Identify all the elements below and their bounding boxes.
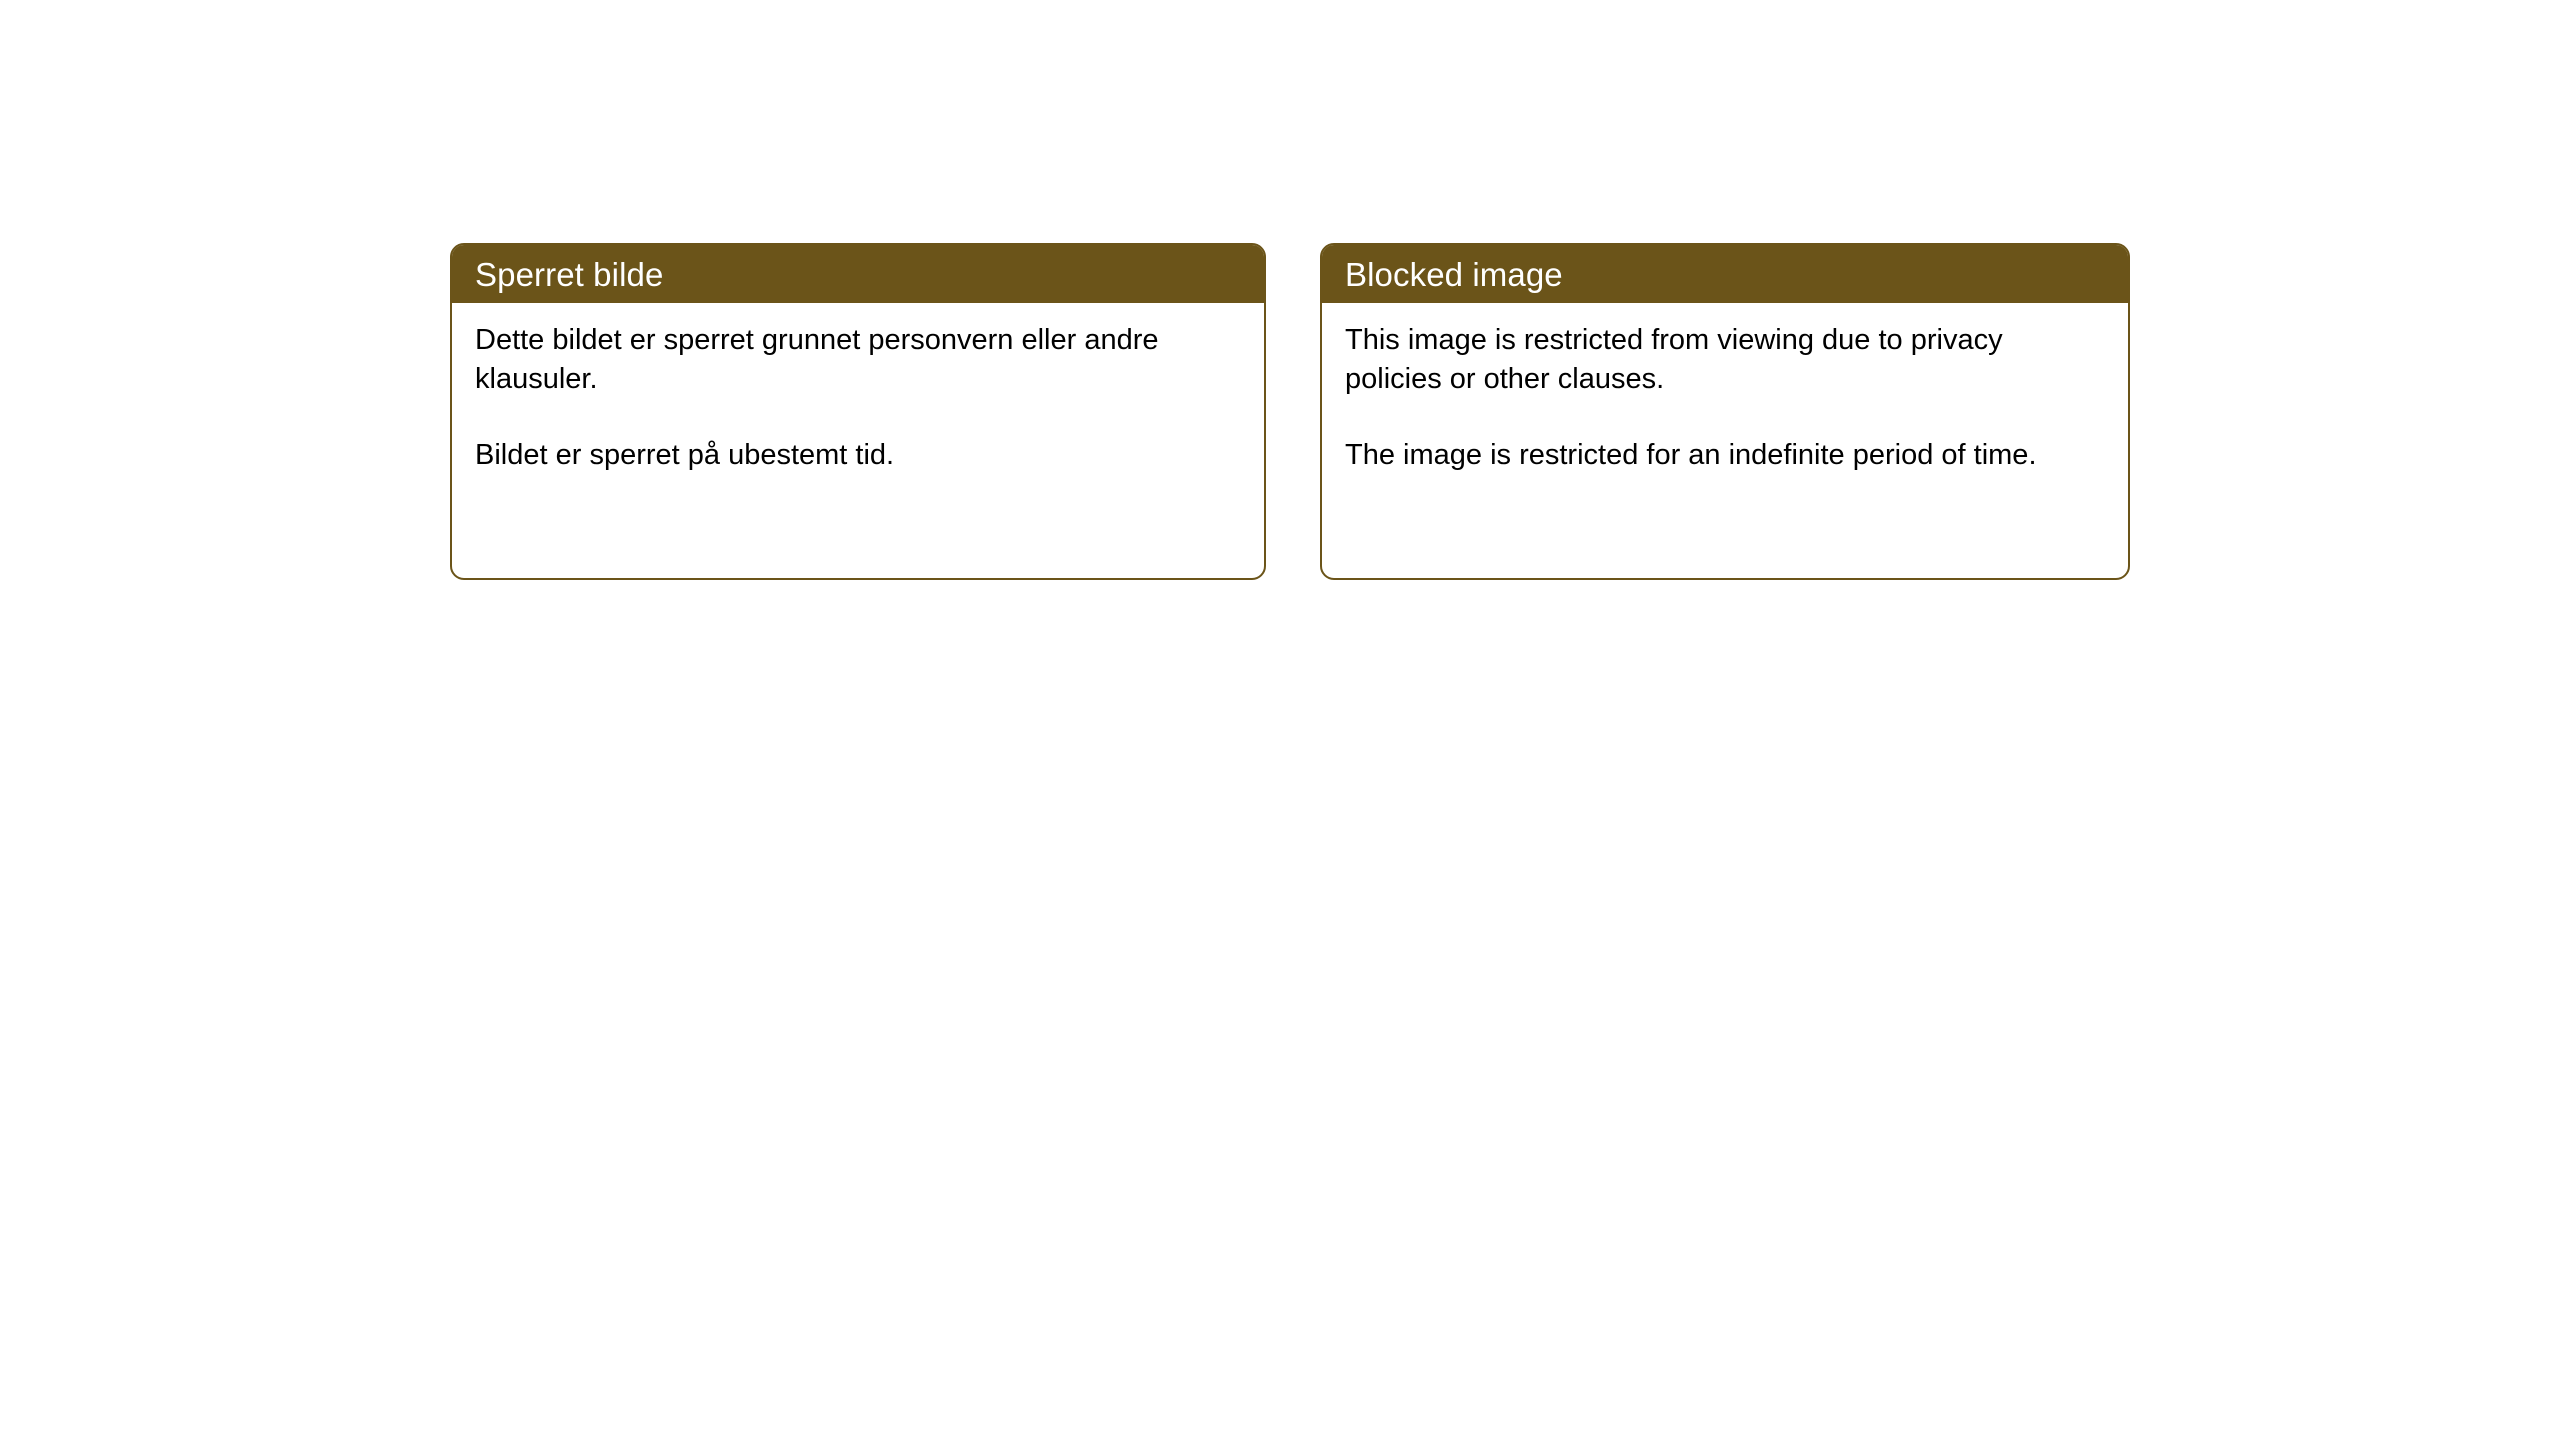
notice-paragraph: Bildet er sperret på ubestemt tid. [475, 436, 1240, 475]
notice-header-english: Blocked image [1322, 245, 2128, 303]
blocked-image-notice-english: Blocked image This image is restricted f… [1320, 243, 2130, 580]
notice-title-norwegian: Sperret bilde [475, 258, 663, 291]
notice-paragraph: This image is restricted from viewing du… [1345, 321, 2104, 398]
notice-body-english: This image is restricted from viewing du… [1322, 303, 2128, 475]
notice-title-english: Blocked image [1345, 258, 1563, 291]
notice-body-norwegian: Dette bildet er sperret grunnet personve… [452, 303, 1264, 475]
page-root: Sperret bilde Dette bildet er sperret gr… [0, 0, 2560, 1440]
notice-paragraph: The image is restricted for an indefinit… [1345, 436, 2104, 475]
notice-paragraph: Dette bildet er sperret grunnet personve… [475, 321, 1240, 398]
blocked-image-notice-norwegian: Sperret bilde Dette bildet er sperret gr… [450, 243, 1266, 580]
notice-header-norwegian: Sperret bilde [452, 245, 1264, 303]
